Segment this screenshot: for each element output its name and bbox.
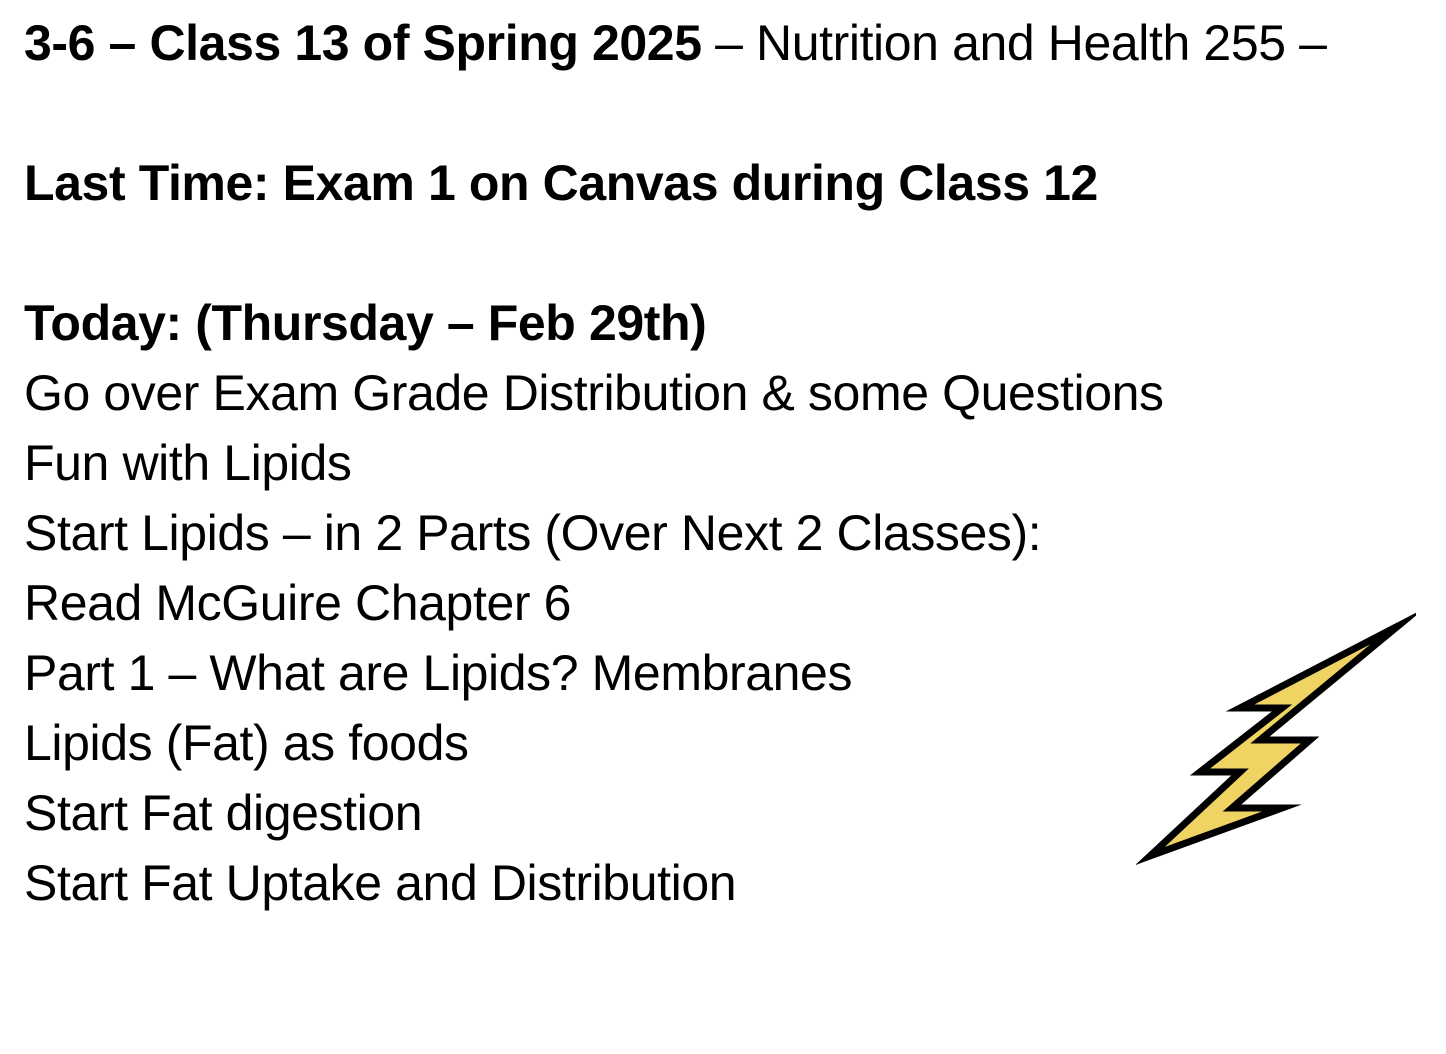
slide-title-bold-segment: 3-6 – Class 13 of Spring 2025 — [24, 15, 702, 71]
agenda-item-3: Read McGuire Chapter 6 — [24, 568, 1434, 638]
agenda-item-5: Lipids (Fat) as foods — [24, 708, 1434, 778]
agenda-item-7: Start Fat Uptake and Distribution — [24, 848, 1434, 918]
slide-canvas: 3-6 – Class 13 of Spring 2025 – Nutritio… — [0, 0, 1446, 1054]
agenda-item-0: Go over Exam Grade Distribution & some Q… — [24, 358, 1434, 428]
agenda-item-1: Fun with Lipids — [24, 428, 1434, 498]
today-heading: Today: (Thursday – Feb 29th) — [24, 288, 1434, 358]
agenda-item-4: Part 1 – What are Lipids? Membranes — [24, 638, 1434, 708]
spacer-after-last-time — [24, 218, 1434, 288]
agenda-item-2: Start Lipids – in 2 Parts (Over Next 2 C… — [24, 498, 1434, 568]
slide-title-line: 3-6 – Class 13 of Spring 2025 – Nutritio… — [24, 8, 1434, 78]
agenda-item-6: Start Fat digestion — [24, 778, 1434, 848]
spacer-after-title — [24, 78, 1434, 148]
slide-title-regular-segment: – Nutrition and Health 255 – — [702, 15, 1327, 71]
slide-text-block: 3-6 – Class 13 of Spring 2025 – Nutritio… — [24, 8, 1434, 918]
last-time-heading: Last Time: Exam 1 on Canvas during Class… — [24, 148, 1434, 218]
